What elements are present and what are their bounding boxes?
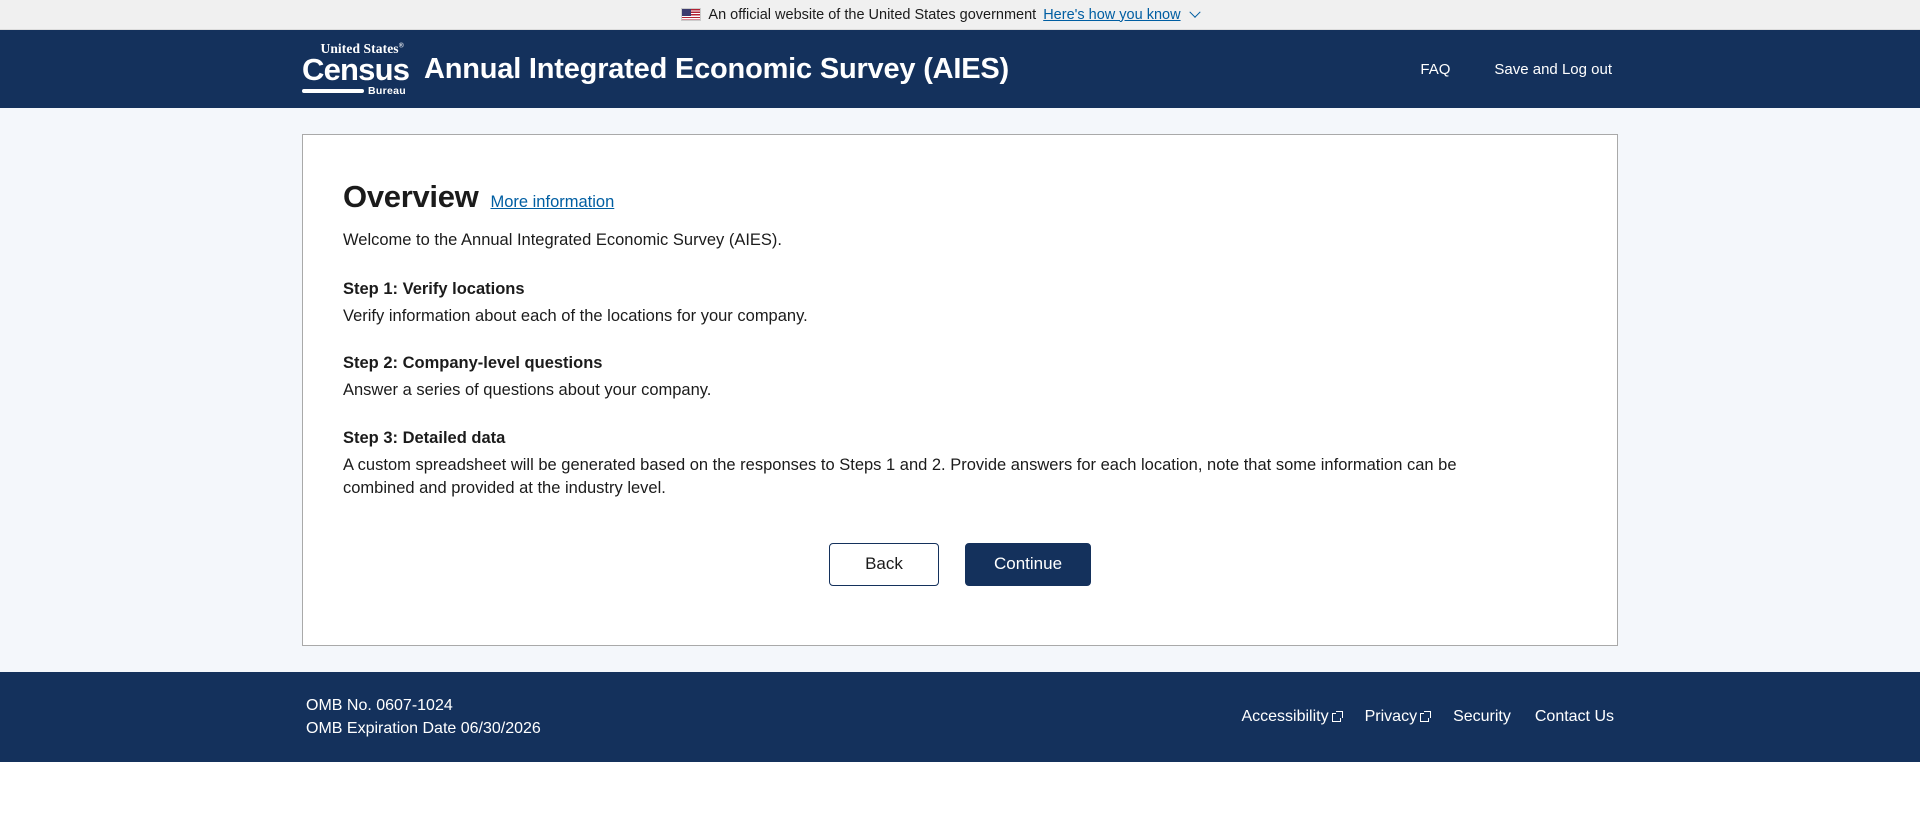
footer-link-accessibility-label: Accessibility — [1241, 708, 1328, 726]
logo-census-word: Census — [302, 54, 406, 85]
footer-link-privacy[interactable]: Privacy — [1365, 708, 1429, 726]
nav-link-faq[interactable]: FAQ — [1420, 61, 1450, 78]
step-1-block: Step 1: Verify locations Verify informat… — [343, 280, 1577, 328]
gov-banner-text: An official website of the United States… — [708, 7, 1036, 23]
footer-link-privacy-label: Privacy — [1365, 708, 1417, 726]
footer-links: Accessibility Privacy Security Contact U… — [1241, 708, 1614, 726]
chevron-down-icon[interactable] — [1189, 6, 1200, 17]
site-footer: OMB No. 0607-1024 OMB Expiration Date 06… — [0, 672, 1920, 762]
nav-link-save-and-log-out[interactable]: Save and Log out — [1494, 61, 1612, 78]
gov-banner: An official website of the United States… — [0, 0, 1920, 30]
external-link-icon — [1332, 713, 1341, 722]
step-3-title: Step 3: Detailed data — [343, 429, 1577, 448]
overview-heading: Overview — [343, 179, 478, 215]
continue-button[interactable]: Continue — [965, 543, 1091, 586]
step-2-block: Step 2: Company-level questions Answer a… — [343, 354, 1577, 402]
footer-link-accessibility[interactable]: Accessibility — [1241, 708, 1340, 726]
step-2-title: Step 2: Company-level questions — [343, 354, 1577, 373]
omb-info: OMB No. 0607-1024 OMB Expiration Date 06… — [306, 694, 541, 740]
step-3-text: A custom spreadsheet will be generated b… — [343, 454, 1523, 501]
omb-number: OMB No. 0607-1024 — [306, 694, 541, 717]
form-actions: Back Continue — [343, 543, 1577, 586]
page-title: Annual Integrated Economic Survey (AIES) — [424, 53, 1009, 86]
step-1-text: Verify information about each of the loc… — [343, 305, 1523, 328]
logo-bureau-word: Bureau — [368, 86, 406, 97]
header-nav: FAQ Save and Log out — [1420, 61, 1626, 78]
census-bureau-logo[interactable]: United States® Census Bureau — [302, 42, 406, 96]
welcome-text: Welcome to the Annual Integrated Economi… — [343, 231, 1577, 250]
footer-link-contact-us[interactable]: Contact Us — [1535, 708, 1614, 726]
step-2-text: Answer a series of questions about your … — [343, 379, 1523, 402]
footer-link-security[interactable]: Security — [1453, 708, 1511, 726]
omb-expiration-date: OMB Expiration Date 06/30/2026 — [306, 717, 541, 740]
site-header: United States® Census Bureau Annual Inte… — [0, 30, 1920, 108]
registered-mark: ® — [399, 42, 404, 50]
external-link-icon — [1420, 713, 1429, 722]
back-button[interactable]: Back — [829, 543, 939, 586]
overview-card: Overview More information Welcome to the… — [302, 134, 1618, 646]
heres-how-you-know-link[interactable]: Here's how you know — [1043, 7, 1180, 23]
us-flag-icon — [681, 8, 701, 21]
step-3-block: Step 3: Detailed data A custom spreadshe… — [343, 429, 1577, 501]
logo-bar — [302, 89, 364, 93]
more-information-link[interactable]: More information — [490, 193, 614, 212]
page-body: Overview More information Welcome to the… — [0, 108, 1920, 672]
step-1-title: Step 1: Verify locations — [343, 280, 1577, 299]
